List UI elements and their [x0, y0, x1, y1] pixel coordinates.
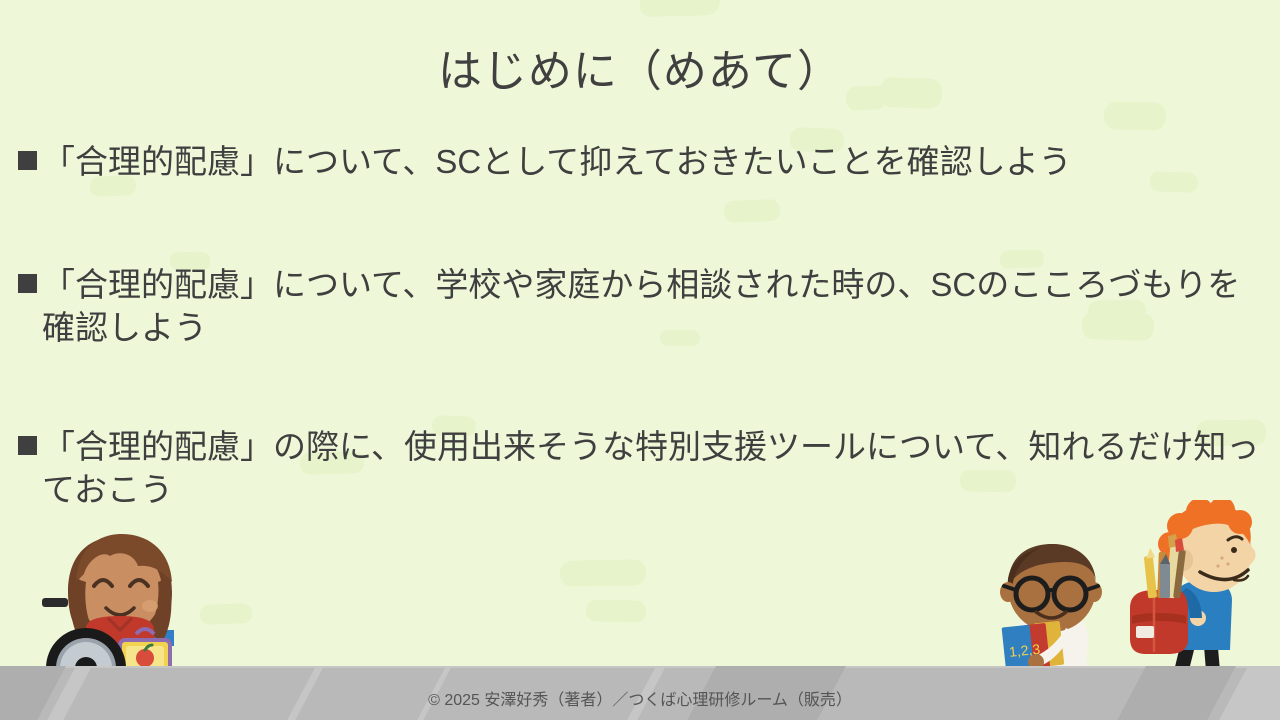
bullet-item: 「合理的配慮」の際に、使用出来そうな特別支援ツールについて、知れるだけ知っておこ…	[18, 425, 1268, 511]
background-blob	[1104, 101, 1166, 130]
bullet-item-text: 「合理的配慮」について、学校や家庭から相談された時の、SCのこころづもりを確認し…	[42, 263, 1268, 349]
square-bullet-icon	[18, 274, 37, 293]
square-bullet-icon	[18, 151, 37, 170]
slide-title: はじめに（めあて）	[0, 44, 1280, 100]
bullet-item-text: 「合理的配慮」について、SCとして抑えておきたいことを確認しよう	[42, 140, 1268, 183]
bullet-item-text: 「合理的配慮」の際に、使用出来そうな特別支援ツールについて、知れるだけ知っておこ…	[42, 425, 1268, 511]
footer-band-top-line	[0, 666, 1280, 668]
bullet-item: 「合理的配慮」について、学校や家庭から相談された時の、SCのこころづもりを確認し…	[18, 263, 1268, 349]
background-blob	[586, 599, 647, 623]
background-blob	[560, 559, 646, 586]
square-bullet-icon	[18, 436, 37, 455]
copyright-text: © 2025 安澤好秀（著者）／つくば心理研修ルーム（販売）	[0, 690, 1280, 712]
background-blob	[640, 0, 721, 17]
bullet-list: 「合理的配慮」について、SCとして抑えておきたいことを確認しよう 「合理的配慮」…	[18, 140, 1268, 511]
slide-canvas: はじめに（めあて） 「合理的配慮」について、SCとして抑えておきたいことを確認し…	[0, 0, 1280, 720]
bullet-item: 「合理的配慮」について、SCとして抑えておきたいことを確認しよう	[18, 140, 1268, 183]
backpack-icon	[1130, 534, 1188, 654]
